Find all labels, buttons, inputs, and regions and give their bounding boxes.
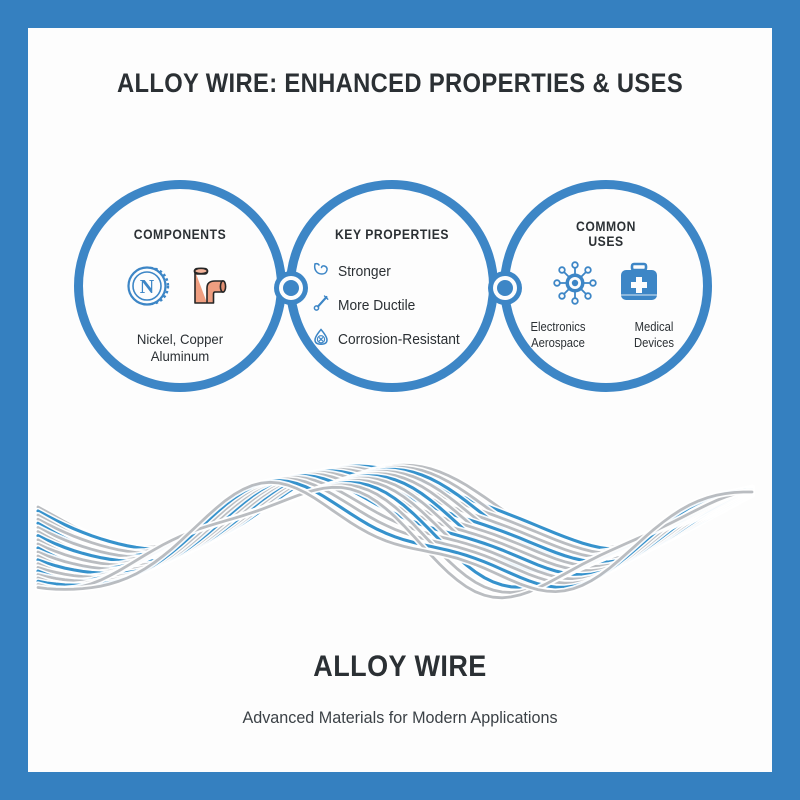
alloy-wire-bundle: [28, 428, 772, 658]
components-caption: Nickel, Copper Aluminum: [89, 331, 271, 365]
infographic-frame: ALLOY WIRE: ENHANCED PROPERTIES & USES C…: [28, 28, 772, 772]
key-properties-list: Stronger More Ductile: [311, 259, 491, 361]
connector-node-1: [274, 271, 308, 305]
section-components[interactable]: COMPONENTS N: [74, 180, 286, 392]
svg-text:N: N: [140, 276, 155, 298]
common-uses-icon-row: [509, 257, 703, 314]
components-caption-line2: Aluminum: [89, 348, 271, 365]
footer-subtitle: Advanced Materials for Modern Applicatio…: [47, 708, 754, 728]
bending-rod-icon: [311, 293, 331, 318]
use-caption-medical: Medical Devices: [615, 319, 693, 351]
page-title: ALLOY WIRE: ENHANCED PROPERTIES & USES: [73, 68, 728, 99]
section-key-properties-title: KEY PROPERTIES: [305, 227, 480, 242]
section-common-uses[interactable]: COMMON USES: [500, 180, 712, 392]
connector-core: [497, 280, 513, 296]
section-components-title: COMPONENTS: [93, 227, 268, 242]
common-uses-title-line1: COMMON: [519, 219, 694, 234]
use-electronics-line2: Aerospace: [522, 335, 595, 351]
components-caption-line1: Nickel, Copper: [89, 331, 271, 348]
copper-pipe-icon: [185, 261, 235, 316]
connector-core: [283, 280, 299, 296]
property-label-more-ductile: More Ductile: [338, 298, 415, 314]
droplet-x-icon: [311, 327, 331, 352]
medical-kit-icon: [615, 259, 663, 312]
property-item-stronger: Stronger: [311, 259, 491, 284]
use-electronics-line1: Electronics: [522, 319, 595, 335]
common-uses-captions: Electronics Aerospace Medical Devices: [509, 319, 703, 351]
nickel-coin-icon: N: [125, 263, 171, 314]
circuit-hub-icon: [549, 257, 601, 314]
section-common-uses-title: COMMON USES: [519, 219, 694, 249]
bicep-icon: [311, 259, 331, 284]
property-label-stronger: Stronger: [338, 264, 391, 280]
use-medical-line1: Medical: [618, 319, 691, 335]
footer-title: ALLOY WIRE: [65, 650, 735, 684]
circles-row: COMPONENTS N: [28, 170, 772, 420]
use-medical-line2: Devices: [618, 335, 691, 351]
section-key-properties[interactable]: KEY PROPERTIES Stronger: [286, 180, 498, 392]
connector-node-2: [488, 271, 522, 305]
property-item-corrosion-resistant: Corrosion-Resistant: [311, 327, 491, 352]
property-item-more-ductile: More Ductile: [311, 293, 491, 318]
use-caption-electronics: Electronics Aerospace: [519, 319, 597, 351]
components-icon-row: N: [83, 261, 277, 316]
common-uses-title-line2: USES: [519, 234, 694, 249]
property-label-corrosion-resistant: Corrosion-Resistant: [338, 332, 460, 348]
